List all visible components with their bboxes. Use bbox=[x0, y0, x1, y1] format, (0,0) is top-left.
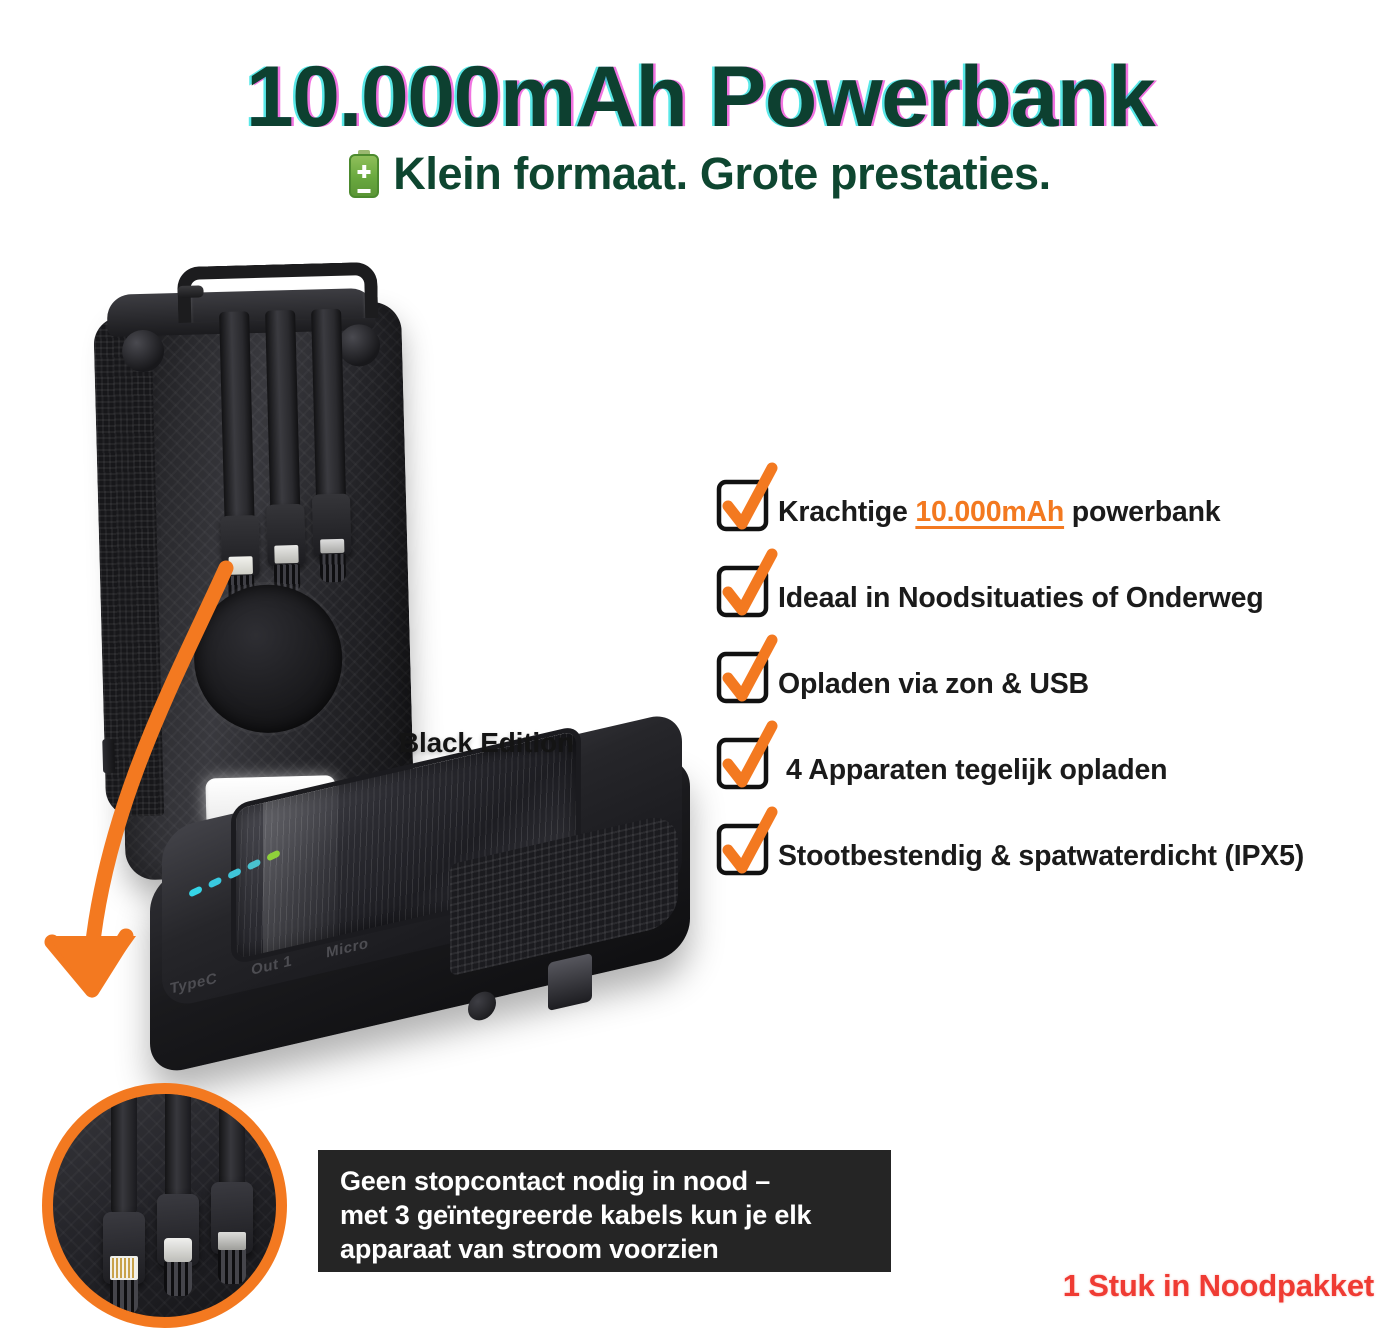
caption-line-1: met 3 geïntegreerde kabels kun je elk bbox=[340, 1198, 869, 1232]
feature-prefix-1: Ideaal in Noodsituaties of Onderweg bbox=[778, 582, 1264, 614]
product-image-group: TypeC Out 1 Micro bbox=[0, 230, 720, 1090]
feature-prefix-4: Stootbestendig & spatwaterdicht (IPX5) bbox=[778, 840, 1304, 872]
checkbox-checked-icon bbox=[716, 478, 778, 536]
feature-item-4: Stootbestendig & spatwaterdicht (IPX5) bbox=[716, 822, 1396, 908]
feature-item-0: Krachtige 10.000mAh powerbank bbox=[716, 478, 1396, 564]
feature-highlight-0: 10.000mAh bbox=[915, 496, 1064, 528]
cable-closeup-inset bbox=[42, 1083, 287, 1328]
usb-c-connector-icon bbox=[157, 1194, 199, 1266]
caption-box: Geen stopcontact nodig in nood – met 3 g… bbox=[318, 1150, 891, 1272]
caption-line-2: apparaat van stroom voorzien bbox=[340, 1232, 869, 1266]
usb-port bbox=[548, 953, 592, 1011]
battery-icon bbox=[349, 150, 379, 198]
caption-line-0: Geen stopcontact nodig in nood – bbox=[340, 1164, 869, 1198]
feature-suffix-0: powerbank bbox=[1064, 496, 1220, 528]
subtitle-row: Klein formaat. Grote prestaties. bbox=[0, 148, 1400, 200]
feature-prefix-3: 4 Apparaten tegelijk opladen bbox=[786, 754, 1167, 786]
feature-item-2: Opladen via zon & USB bbox=[716, 650, 1396, 736]
feature-label-0: Krachtige 10.000mAh powerbank bbox=[778, 478, 1220, 527]
orange-arrow-icon bbox=[30, 550, 300, 1050]
feature-item-1: Ideaal in Noodsituaties of Onderweg bbox=[716, 564, 1396, 650]
feature-label-3: 4 Apparaten tegelijk opladen bbox=[778, 736, 1167, 785]
black-edition-label: Black Edition bbox=[399, 727, 574, 759]
feature-prefix-0: Krachtige bbox=[778, 496, 915, 528]
page-subtitle: Klein formaat. Grote prestaties. bbox=[393, 148, 1050, 200]
checkbox-checked-icon bbox=[716, 822, 778, 880]
feature-label-2: Opladen via zon & USB bbox=[778, 650, 1089, 699]
footer-note: 1 Stuk in Noodpakket bbox=[1063, 1268, 1374, 1304]
checkbox-checked-icon bbox=[716, 736, 778, 794]
feature-label-4: Stootbestendig & spatwaterdicht (IPX5) bbox=[778, 822, 1304, 871]
page-title: 10.000mAh Powerbank bbox=[0, 48, 1400, 147]
feature-list: Krachtige 10.000mAh powerbank Ideaal in … bbox=[716, 478, 1396, 908]
micro-usb-connector-icon bbox=[211, 1182, 253, 1254]
lightning-connector-icon bbox=[103, 1212, 145, 1284]
feature-prefix-2: Opladen via zon & USB bbox=[778, 668, 1089, 700]
header: 10.000mAh Powerbank Klein formaat. Grote… bbox=[0, 0, 1400, 220]
feature-item-3: 4 Apparaten tegelijk opladen bbox=[716, 736, 1396, 822]
feature-label-1: Ideaal in Noodsituaties of Onderweg bbox=[778, 564, 1264, 613]
checkbox-checked-icon bbox=[716, 564, 778, 622]
checkbox-checked-icon bbox=[716, 650, 778, 708]
